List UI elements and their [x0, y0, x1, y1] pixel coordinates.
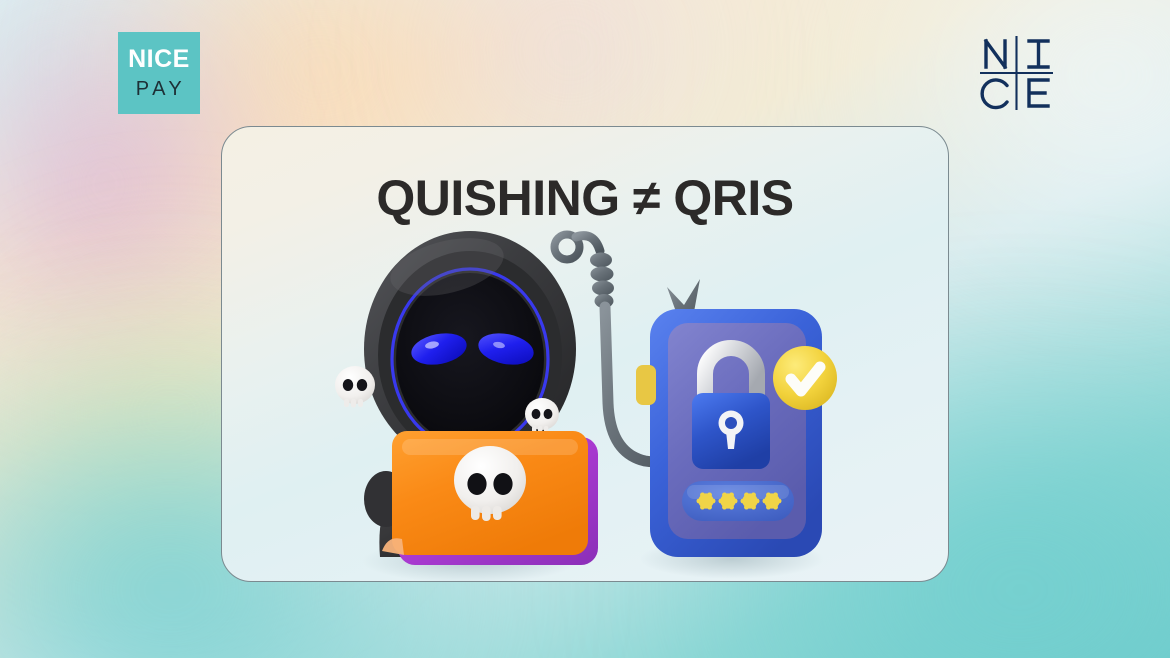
laptop-with-skull [382, 431, 598, 565]
password-field [682, 481, 794, 521]
illustration-artwork [222, 127, 949, 582]
content-card: QUISHING ≠ QRIS [221, 126, 949, 582]
verified-check-badge [773, 346, 837, 410]
secure-password-card [636, 309, 837, 557]
nice-logo-svg [977, 32, 1057, 114]
nicepay-logo-line2: PAY [136, 79, 187, 99]
nicepay-logo: NICE PAY [118, 32, 200, 114]
illustration-svg [222, 127, 949, 582]
nicepay-logo-line1: NICE [128, 47, 190, 72]
nice-logo [977, 32, 1057, 114]
padlock-keyhole-center [725, 417, 737, 429]
password-card-tab [636, 365, 656, 405]
floating-skull-left [335, 366, 375, 408]
